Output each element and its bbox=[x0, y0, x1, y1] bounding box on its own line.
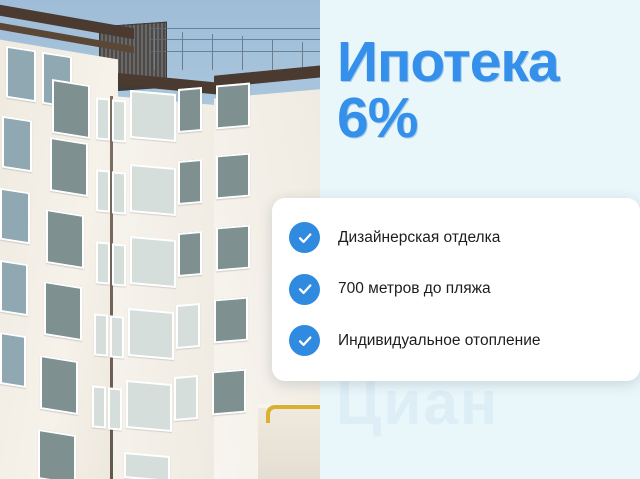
mortgage-promo-banner: Ипотека 6% Циан Дизайнерская отделка 700… bbox=[0, 0, 640, 479]
window bbox=[44, 281, 82, 341]
window bbox=[176, 303, 200, 349]
window bbox=[216, 153, 250, 200]
window bbox=[94, 313, 108, 356]
window bbox=[40, 355, 78, 415]
window bbox=[216, 83, 250, 130]
feature-label: 700 метров до пляжа bbox=[338, 280, 491, 299]
check-circle-icon bbox=[289, 274, 320, 305]
window bbox=[50, 137, 88, 197]
roof-railing bbox=[150, 26, 320, 70]
feature-item: 700 метров до пляжа bbox=[272, 264, 640, 316]
feature-label: Дизайнерская отделка bbox=[338, 229, 500, 248]
window bbox=[178, 231, 202, 277]
window bbox=[178, 159, 202, 205]
window bbox=[38, 429, 76, 479]
window bbox=[212, 369, 246, 416]
window bbox=[128, 308, 174, 360]
window bbox=[110, 315, 124, 358]
gas-pipe bbox=[266, 405, 320, 423]
window bbox=[92, 385, 106, 428]
window bbox=[96, 241, 110, 284]
check-circle-icon bbox=[289, 222, 320, 253]
window bbox=[214, 297, 248, 344]
window bbox=[46, 209, 84, 269]
window bbox=[216, 225, 250, 272]
window bbox=[0, 188, 30, 245]
check-circle-icon bbox=[289, 325, 320, 356]
feature-label: Индивидуальное отопление bbox=[338, 332, 540, 351]
feature-item: Дизайнерская отделка bbox=[272, 212, 640, 264]
window bbox=[124, 452, 170, 479]
promo-headline: Ипотека 6% bbox=[337, 34, 637, 146]
window bbox=[96, 97, 110, 140]
window bbox=[112, 99, 126, 142]
window bbox=[178, 87, 202, 133]
window bbox=[108, 387, 122, 430]
window bbox=[0, 332, 26, 388]
window bbox=[2, 116, 32, 173]
window bbox=[112, 171, 126, 214]
feature-item: Индивидуальное отопление bbox=[272, 315, 640, 367]
window bbox=[130, 164, 176, 216]
window bbox=[6, 46, 36, 103]
features-card: Дизайнерская отделка 700 метров до пляжа… bbox=[272, 198, 640, 381]
window bbox=[52, 79, 90, 139]
window bbox=[96, 169, 110, 212]
window bbox=[0, 260, 28, 316]
window bbox=[174, 375, 198, 421]
window bbox=[130, 90, 176, 142]
window bbox=[112, 243, 126, 286]
window bbox=[130, 236, 176, 288]
window bbox=[126, 380, 172, 432]
